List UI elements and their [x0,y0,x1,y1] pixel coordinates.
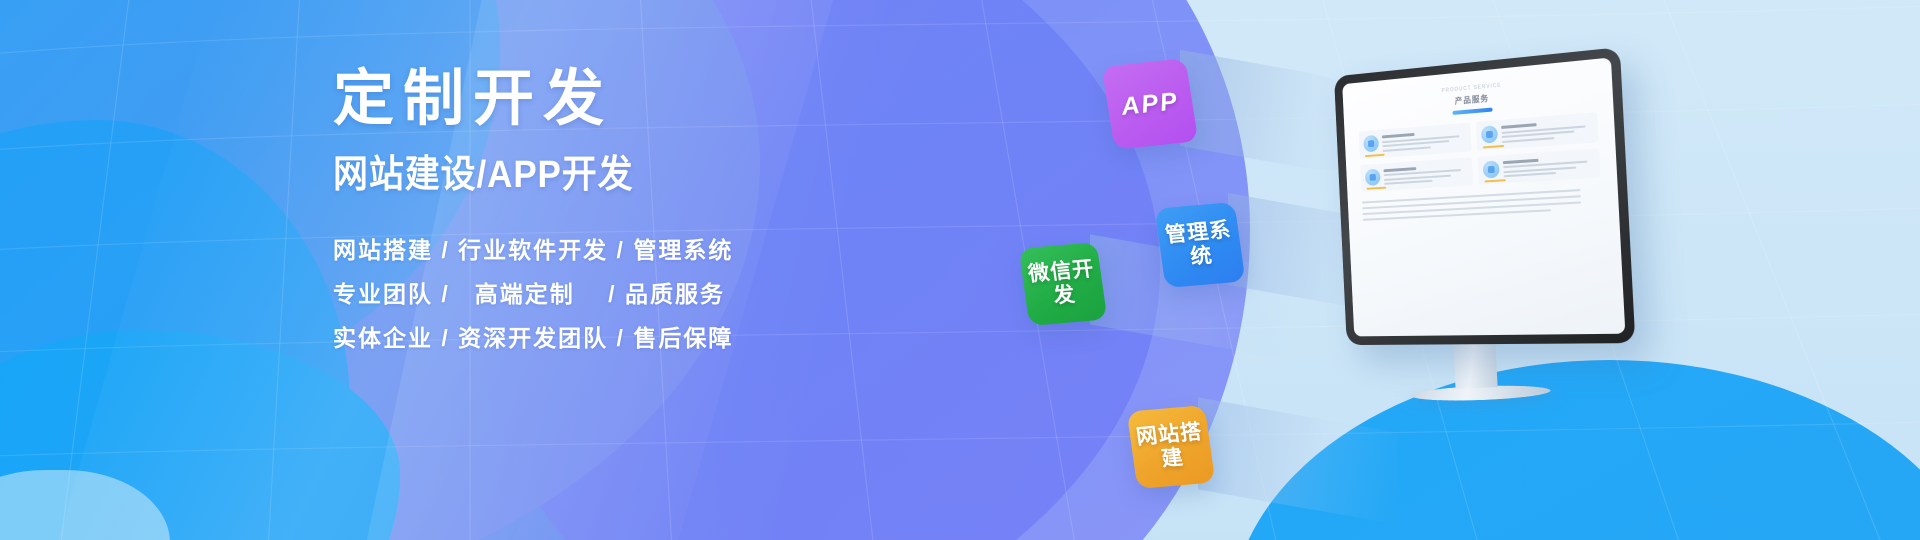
screen-card-icon [1365,168,1381,185]
service-card-management[interactable]: 管理系统 [1155,202,1246,288]
monitor-screen: PRODUCT SERVICE 产品服务 [1342,57,1625,336]
screen-card-line [1383,146,1431,152]
service-card-app-label: APP [1119,87,1181,122]
feature-line-1: 网站搭建 / 行业软件开发 / 管理系统 [333,228,853,272]
screen-card-heading [1503,158,1539,163]
screen-card-heading [1501,123,1537,129]
screen-card-text [1383,162,1468,185]
monitor-frame: PRODUCT SERVICE 产品服务 [1334,47,1635,345]
service-card-website[interactable]: 网站搭建 [1127,405,1216,489]
screen-card [1360,157,1473,192]
service-card-website-label: 网站搭建 [1129,420,1213,474]
banner-copy: 定制开发 网站建设/APP开发 网站搭建 / 行业软件开发 / 管理系统 专业团… [333,66,853,360]
screen-card-icon [1481,125,1498,143]
screen-card-line [1384,180,1432,185]
screen-paragraph [1362,188,1602,221]
screen-card-text [1501,118,1593,143]
screen-card-heading [1383,167,1416,172]
screen-card-icon [1363,135,1379,153]
screen-card-text [1382,128,1467,152]
service-card-wechat[interactable]: 微信开发 [1019,242,1108,326]
screen-title-underline [1452,108,1492,115]
screen-card-icon [1483,160,1500,178]
feature-line-2: 专业团队 / 高端定制 / 品质服务 [333,272,853,316]
feature-line-3: 实体企业 / 资深开发团队 / 售后保障 [333,316,853,360]
screen-card [1478,148,1601,185]
subheadline: 网站建设/APP开发 [333,155,811,197]
screen-card-text [1503,153,1595,177]
service-card-management-label: 管理系统 [1157,218,1243,273]
feature-list: 网站搭建 / 行业软件开发 / 管理系统 专业团队 / 高端定制 / 品质服务 … [333,228,853,360]
headline: 定制开发 [333,66,853,131]
screen-card-heading [1382,133,1415,139]
screen-card-line [1502,137,1554,143]
screen-card-grid [1359,112,1601,192]
promo-banner: 定制开发 网站建设/APP开发 网站搭建 / 行业软件开发 / 管理系统 专业团… [0,0,1920,540]
screen-card [1476,112,1599,150]
screen-card [1359,122,1472,158]
screen-card-line [1504,172,1556,177]
service-card-wechat-label: 微信开发 [1021,257,1105,311]
service-card-app[interactable]: APP [1102,58,1199,150]
monitor-mockup: PRODUCT SERVICE 产品服务 [1315,62,1645,482]
